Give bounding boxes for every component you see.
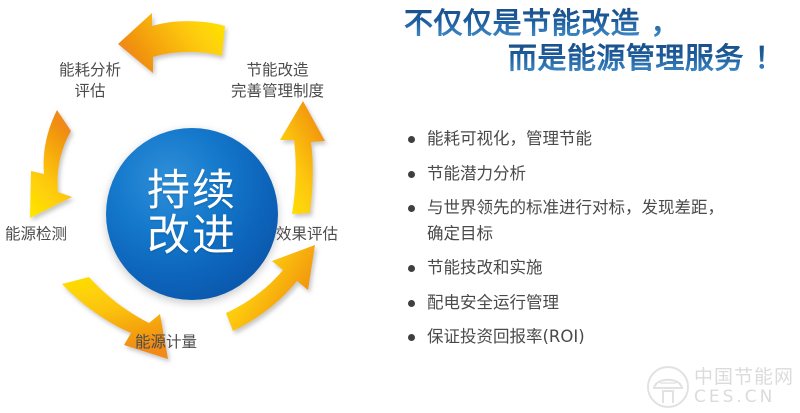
cycle-center-line2: 改进	[147, 214, 237, 259]
headline-line-2: 而是能源管理服务 ！	[398, 41, 794, 76]
bullet-dot-icon	[408, 265, 415, 272]
headline-line-1: 不仅仅是节能改造 ，	[398, 6, 794, 41]
list-item: 与世界领先的标准进行对标，发现差距， 确定目标	[400, 195, 798, 246]
bullet-dot-icon	[408, 300, 415, 307]
list-item: 保证投资回报率(ROI)	[400, 324, 798, 350]
bullet-dot-icon	[408, 171, 415, 178]
benefits-bullet-list: 能耗可视化，管理节能 节能潜力分析 与世界领先的标准进行对标，发现差距， 确定目…	[400, 126, 798, 359]
bullet-dot-icon	[408, 205, 415, 212]
bullet-dot-icon	[408, 136, 415, 143]
slide-canvas: 持续 改进 能耗分析 评估 节能改造 完善管理制度 能源检测 效果评估 能源计量…	[0, 0, 800, 413]
cycle-label-effect-evaluation: 效果评估	[276, 224, 386, 245]
cycle-label-energy-metering: 能源计量	[135, 332, 255, 353]
watermark: 中国节能网 CES.CN	[646, 365, 794, 409]
watermark-en: CES.CN	[694, 389, 794, 406]
list-item: 配电安全运行管理	[400, 290, 798, 316]
bullet-text: 能耗可视化，管理节能	[427, 126, 798, 152]
list-item: 节能技改和实施	[400, 255, 798, 281]
cycle-label-energy-consumption-analysis: 能耗分析 评估	[30, 60, 150, 103]
bullet-text: 节能技改和实施	[427, 255, 798, 281]
arrow-left-down	[30, 110, 72, 218]
headline-block: 不仅仅是节能改造 ， 而是能源管理服务 ！	[398, 6, 794, 77]
cycle-center-sphere: 持续 改进	[106, 128, 278, 300]
bullet-text: 节能潜力分析	[427, 161, 798, 187]
list-item: 节能潜力分析	[400, 161, 798, 187]
arch-bridge-logo-icon	[646, 365, 690, 409]
arrow-right-up	[280, 101, 325, 214]
watermark-cn: 中国节能网	[694, 368, 794, 387]
continuous-improvement-cycle-diagram: 持续 改进 能耗分析 评估 节能改造 完善管理制度 能源检测 效果评估 能源计量	[0, 0, 392, 413]
bullet-text: 与世界领先的标准进行对标，发现差距， 确定目标	[427, 195, 798, 246]
bullet-text: 保证投资回报率(ROI)	[427, 324, 798, 350]
list-item: 能耗可视化，管理节能	[400, 126, 798, 152]
cycle-center-line1: 持续	[147, 169, 237, 214]
cycle-label-energy-detection: 能源检测	[5, 224, 115, 245]
right-content-panel: 不仅仅是节能改造 ， 而是能源管理服务 ！ 能耗可视化，管理节能 节能潜力分析 …	[392, 0, 800, 413]
bullet-dot-icon	[408, 334, 415, 341]
cycle-label-retrofit-management-system: 节能改造 完善管理制度	[205, 60, 350, 103]
watermark-text: 中国节能网 CES.CN	[694, 368, 794, 406]
bullet-text: 配电安全运行管理	[427, 290, 798, 316]
